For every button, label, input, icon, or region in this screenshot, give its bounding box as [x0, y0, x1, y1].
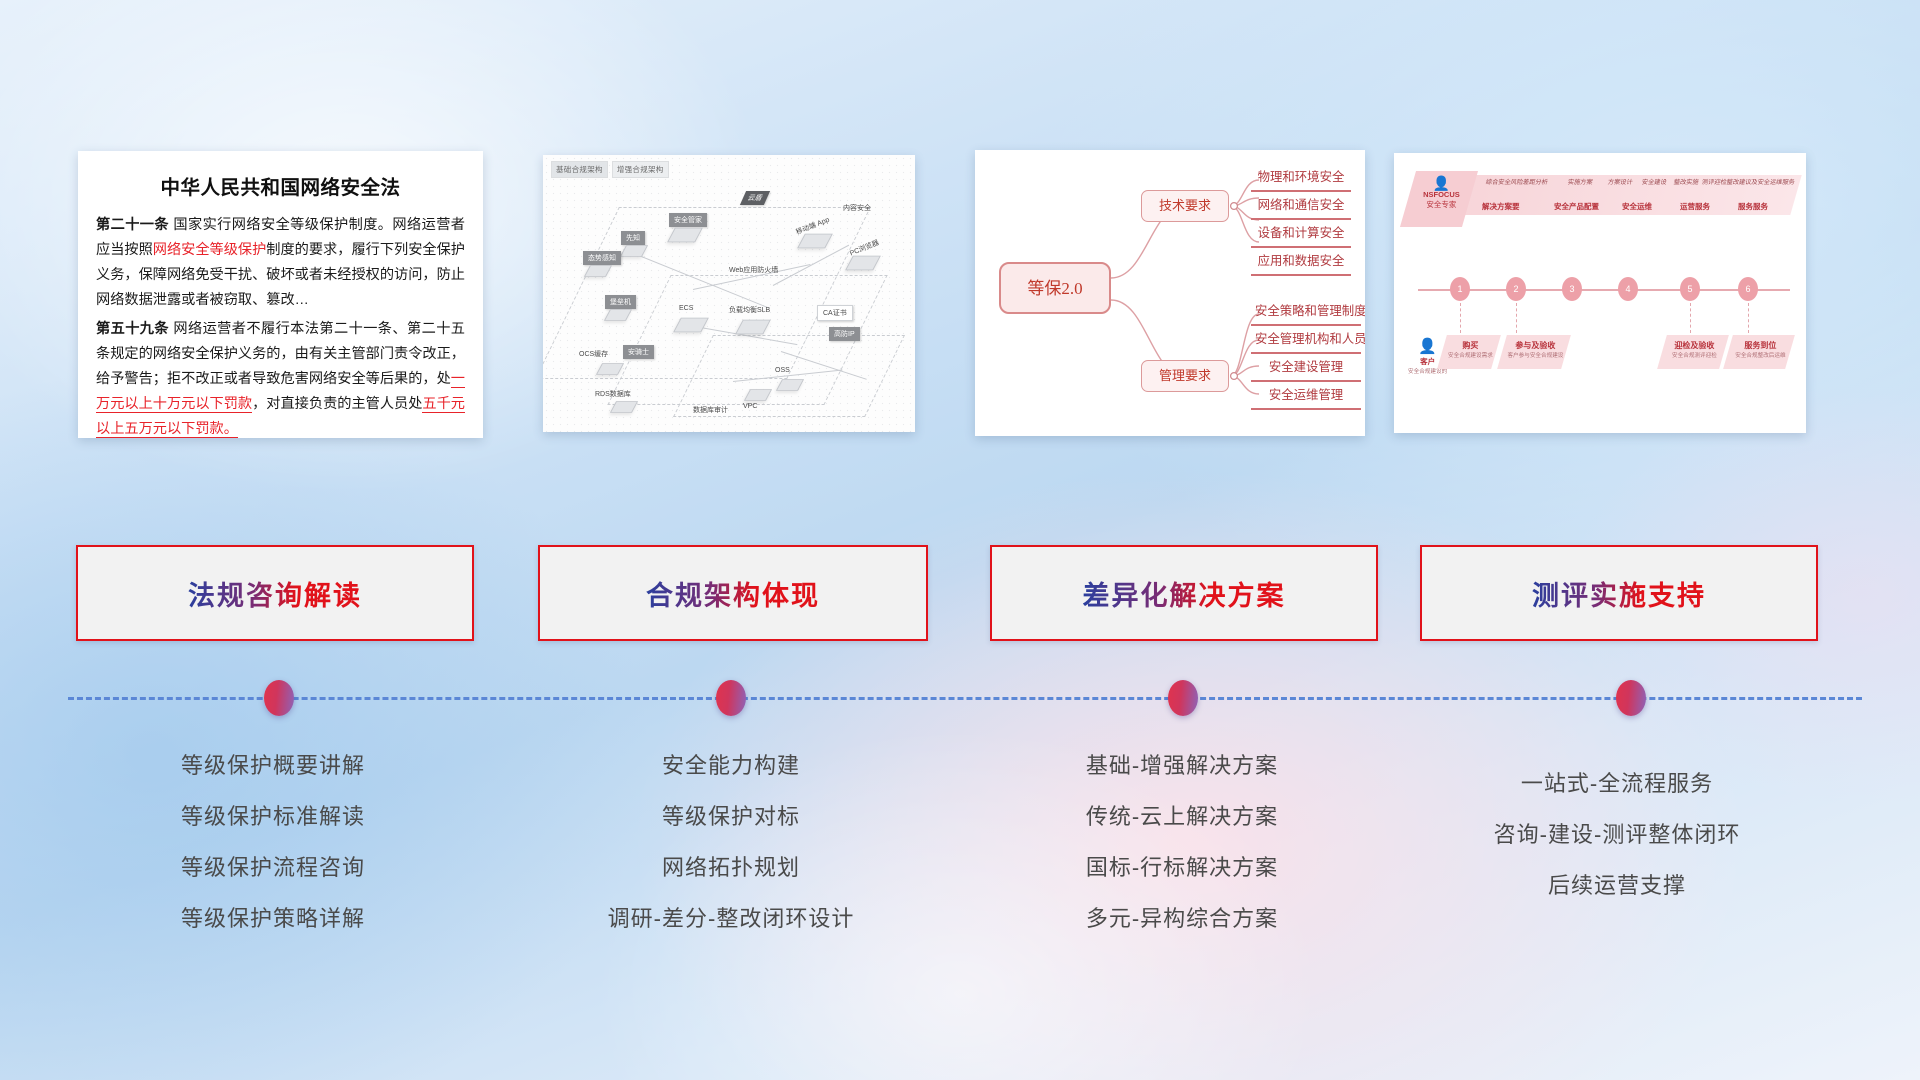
step-marker-6: 6: [1738, 277, 1758, 301]
node-ecs: ECS: [679, 305, 693, 312]
article-21-label: 第二十一条: [96, 217, 169, 233]
pillar-title-box-1[interactable]: 法规咨询解读: [76, 545, 474, 641]
timeline-marker-3[interactable]: [1168, 680, 1198, 716]
timeline-card-3-title: 迎检及验收: [1663, 335, 1725, 351]
mindmap-leaf-application: 应用和数据安全: [1251, 250, 1351, 276]
step-marker-2: 2: [1506, 277, 1526, 301]
mindmap-leaf-device: 设备和计算安全: [1251, 222, 1351, 248]
pillar-title-4: 测评实施支持: [1532, 574, 1706, 613]
banner-top-2: 实施方案: [1567, 177, 1593, 186]
step-marker-1: 1: [1450, 277, 1470, 301]
step-drop-6: [1748, 303, 1749, 333]
pillar-list-3: 基础-增强解决方案 传统-云上解决方案 国标-行标解决方案 多元-异构综合方案: [990, 740, 1374, 944]
pillar-list-2: 安全能力构建 等级保护对标 网络拓扑规划 调研-差分-整改闭环设计: [538, 740, 924, 944]
pillar-title-row: 法规咨询解读 合规架构体现 差异化解决方案 测评实施支持: [0, 545, 1920, 645]
banner-item-1: 解决方案要: [1482, 201, 1520, 212]
list-item: 网络拓扑规划: [538, 842, 924, 893]
mindmap-leaf-construction: 安全建设管理: [1251, 356, 1361, 382]
timeline-card-1-title: 购买: [1443, 335, 1497, 351]
list-item: 后续运营支撑: [1420, 860, 1814, 911]
timeline-marker-2[interactable]: [716, 680, 746, 716]
timeline: [68, 697, 1862, 700]
mindmap-leaf-network: 网络和通信安全: [1251, 194, 1351, 220]
timeline-card-4-sub: 安全合规整改后运维: [1729, 351, 1791, 359]
mindmap-card: 等保2.0 技术要求 物理和环境安全 网络和通信安全 设备和计算安全 应用和数据…: [975, 150, 1365, 436]
mindmap-leaf-policy: 安全策略和管理制度: [1251, 300, 1361, 326]
banner-item-4: 运营服务: [1680, 201, 1710, 212]
timeline-marker-1[interactable]: [264, 680, 294, 716]
list-item: 一站式-全流程服务: [1420, 758, 1814, 809]
pillar-title-box-2[interactable]: 合规架构体现: [538, 545, 928, 641]
banner-top-6: 测评迎检整改建议及安全运维服务: [1701, 177, 1795, 186]
node-db-audit: 数据库审计: [693, 405, 728, 415]
pillar-title-box-3[interactable]: 差异化解决方案: [990, 545, 1378, 641]
list-item: 多元-异构综合方案: [990, 893, 1374, 944]
node-anqishi: 安骑士: [623, 345, 654, 359]
banner-top-5: 整改实施: [1673, 177, 1699, 186]
step-drop-1: [1460, 303, 1461, 333]
tab-basic-architecture[interactable]: 基础合规架构: [551, 161, 608, 178]
mindmap-leaf-physical: 物理和环境安全: [1251, 166, 1351, 192]
banner-item-3: 安全运维: [1622, 201, 1652, 212]
pillar-title-2: 合规架构体现: [646, 574, 820, 613]
banner-item-2: 安全产品配置: [1554, 201, 1599, 212]
node-security-steward: 安全管家: [669, 213, 707, 227]
timeline-card-2: 参与及验收 客户参与安全合规建设: [1497, 335, 1571, 369]
nsfocus-timeline-card: 👤 NSFOCUS 安全专家 综合安全风险差距分析 实施方案 方案设计 安全建设…: [1394, 153, 1806, 433]
list-item: 安全能力构建: [538, 740, 924, 791]
nsfocus-badge-line1: NSFOCUS: [1410, 190, 1472, 199]
timeline-card-4-title: 服务到位: [1729, 335, 1791, 351]
step-marker-5: 5: [1680, 277, 1700, 301]
pillar-title-1: 法规咨询解读: [188, 574, 362, 613]
list-item: 咨询-建设-测评整体闭环: [1420, 809, 1814, 860]
pillar-list-4: 一站式-全流程服务 咨询-建设-测评整体闭环 后续运营支撑: [1420, 758, 1814, 911]
law-article-59: 第五十九条 网络运营者不履行本法第二十一条、第二十五条规定的网络安全保护义务的，…: [96, 317, 465, 442]
step-marker-3: 3: [1562, 277, 1582, 301]
mindmap-branch-management: 管理要求: [1141, 360, 1229, 392]
node-vpc: VPC: [743, 403, 757, 410]
nsfocus-axis: [1418, 289, 1790, 291]
cloud-architecture-card: 基础合规架构 增强合规架构 云盾 安全管家 先知 态势感知 堡垒机: [543, 155, 915, 432]
node-rds: RDS数据库: [595, 389, 631, 399]
node-ca-cert: CA证书: [817, 305, 853, 321]
law-article-21: 第二十一条 国家实行网络安全等级保护制度。网络运营者应当按照网络安全等级保护制度…: [96, 213, 465, 313]
node-xianzhi: 先知: [621, 231, 645, 245]
timeline-card-1-sub: 安全合规建设需求: [1443, 351, 1497, 359]
list-item: 等级保护流程咨询: [76, 842, 470, 893]
list-item: 传统-云上解决方案: [990, 791, 1374, 842]
list-item: 等级保护标准解读: [76, 791, 470, 842]
article-21-highlight: 网络安全等级保护: [153, 242, 267, 258]
timeline-card-4: 服务到位 安全合规整改后运维: [1723, 335, 1795, 369]
node-situational-awareness: 态势感知: [583, 251, 621, 265]
pillar-title-3: 差异化解决方案: [1083, 574, 1286, 613]
pillar-title-box-4[interactable]: 测评实施支持: [1420, 545, 1818, 641]
banner-top-1: 综合安全风险差距分析: [1485, 177, 1548, 186]
mindmap-leaf-ops: 安全运维管理: [1251, 384, 1361, 410]
banner-top-3: 方案设计: [1607, 177, 1633, 186]
law-card-title: 中华人民共和国网络安全法: [96, 171, 465, 200]
timeline-dashed-line: [68, 697, 1862, 700]
list-item: 基础-增强解决方案: [990, 740, 1374, 791]
timeline-card-2-title: 参与及验收: [1503, 335, 1567, 351]
node-content-security: 内容安全: [843, 203, 871, 213]
list-item: 等级保护概要讲解: [76, 740, 470, 791]
node-bastion-host: 堡垒机: [605, 295, 636, 309]
top-card-row: 中华人民共和国网络安全法 第二十一条 国家实行网络安全等级保护制度。网络运营者应…: [0, 0, 1920, 420]
node-oss: OSS: [775, 367, 790, 374]
list-item: 国标-行标解决方案: [990, 842, 1374, 893]
step-drop-2: [1516, 303, 1517, 333]
banner-item-5: 服务服务: [1738, 201, 1768, 212]
node-waf: Web应用防火墙: [729, 265, 778, 275]
article-59-text-b: ，对直接负责的主管人员处: [252, 396, 422, 412]
expert-person-icon: 👤: [1410, 176, 1472, 190]
architecture-tabs: 基础合规架构 增强合规架构: [551, 161, 669, 178]
timeline-card-3: 迎检及验收 安全合规测评迎检: [1657, 335, 1729, 369]
node-anti-ddos-ip: 高防IP: [829, 327, 860, 341]
pillar-list-1: 等级保护概要讲解 等级保护标准解读 等级保护流程咨询 等级保护策略详解: [76, 740, 470, 944]
list-item: 等级保护对标: [538, 791, 924, 842]
step-marker-4: 4: [1618, 277, 1638, 301]
banner-top-4: 安全建设: [1641, 177, 1667, 186]
article-59-label: 第五十九条: [96, 321, 169, 337]
pillar-list-row: 等级保护概要讲解 等级保护标准解读 等级保护流程咨询 等级保护策略详解 安全能力…: [0, 740, 1920, 1040]
law-card: 中华人民共和国网络安全法 第二十一条 国家实行网络安全等级保护制度。网络运营者应…: [78, 151, 483, 438]
timeline-card-1: 购买 安全合规建设需求: [1437, 335, 1501, 369]
tab-enhanced-architecture[interactable]: 增强合规架构: [612, 161, 669, 178]
nsfocus-badge-line2: 安全专家: [1410, 199, 1472, 210]
mindmap-branch-technical: 技术要求: [1141, 190, 1229, 222]
mindmap-root: 等保2.0: [999, 262, 1111, 314]
timeline-card-2-sub: 客户参与安全合规建设: [1503, 351, 1567, 359]
list-item: 等级保护策略详解: [76, 893, 470, 944]
node-ocs-cache: OCS缓存: [579, 349, 608, 359]
step-drop-5: [1690, 303, 1691, 333]
nsfocus-expert-badge: 👤 NSFOCUS 安全专家: [1400, 171, 1478, 227]
timeline-card-3-sub: 安全合规测评迎检: [1663, 351, 1725, 359]
node-slb: 负载均衡SLB: [729, 305, 770, 315]
list-item: 调研-差分-整改闭环设计: [538, 893, 924, 944]
mindmap-leaf-org: 安全管理机构和人员: [1251, 328, 1361, 354]
timeline-marker-4[interactable]: [1616, 680, 1646, 716]
